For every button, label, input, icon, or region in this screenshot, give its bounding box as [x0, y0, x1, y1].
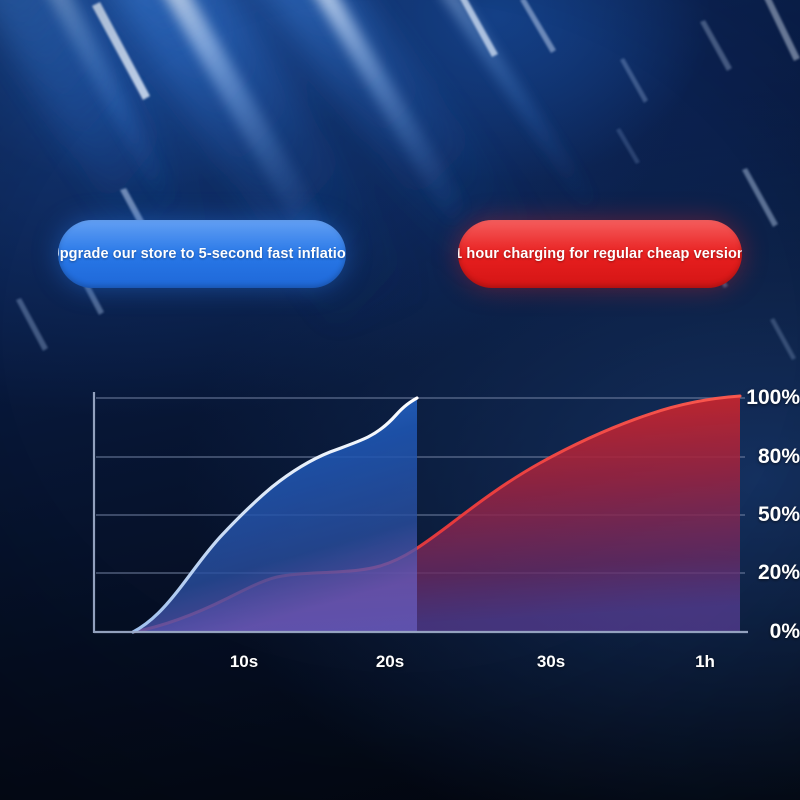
legend-badge-fast-charge-label: Upgrade our store to 5-second fast infla… [58, 246, 346, 262]
legend-badge-regular-charge[interactable]: 1 hour charging for regular cheap versio… [458, 220, 742, 288]
y-axis-tick-50: 50% [730, 503, 800, 527]
charging-speed-area-chart: 100% 80% 50% 20% 0% 10s 20s 30s 1h [0, 330, 800, 690]
x-axis-tick-1h: 1h [695, 652, 715, 672]
y-axis-tick-100: 100% [730, 386, 800, 410]
legend-badge-regular-charge-label: 1 hour charging for regular cheap versio… [458, 246, 742, 262]
x-axis-tick-10s: 10s [230, 652, 258, 672]
infographic-canvas: Upgrade our store to 5-second fast infla… [0, 0, 800, 800]
legend-badge-fast-charge[interactable]: Upgrade our store to 5-second fast infla… [58, 220, 346, 288]
y-axis-tick-80: 80% [730, 445, 800, 469]
y-axis-tick-0: 0% [730, 620, 800, 644]
chart-plot-area [0, 330, 800, 690]
y-axis-tick-20: 20% [730, 561, 800, 585]
x-axis-tick-30s: 30s [537, 652, 565, 672]
x-axis-tick-20s: 20s [376, 652, 404, 672]
